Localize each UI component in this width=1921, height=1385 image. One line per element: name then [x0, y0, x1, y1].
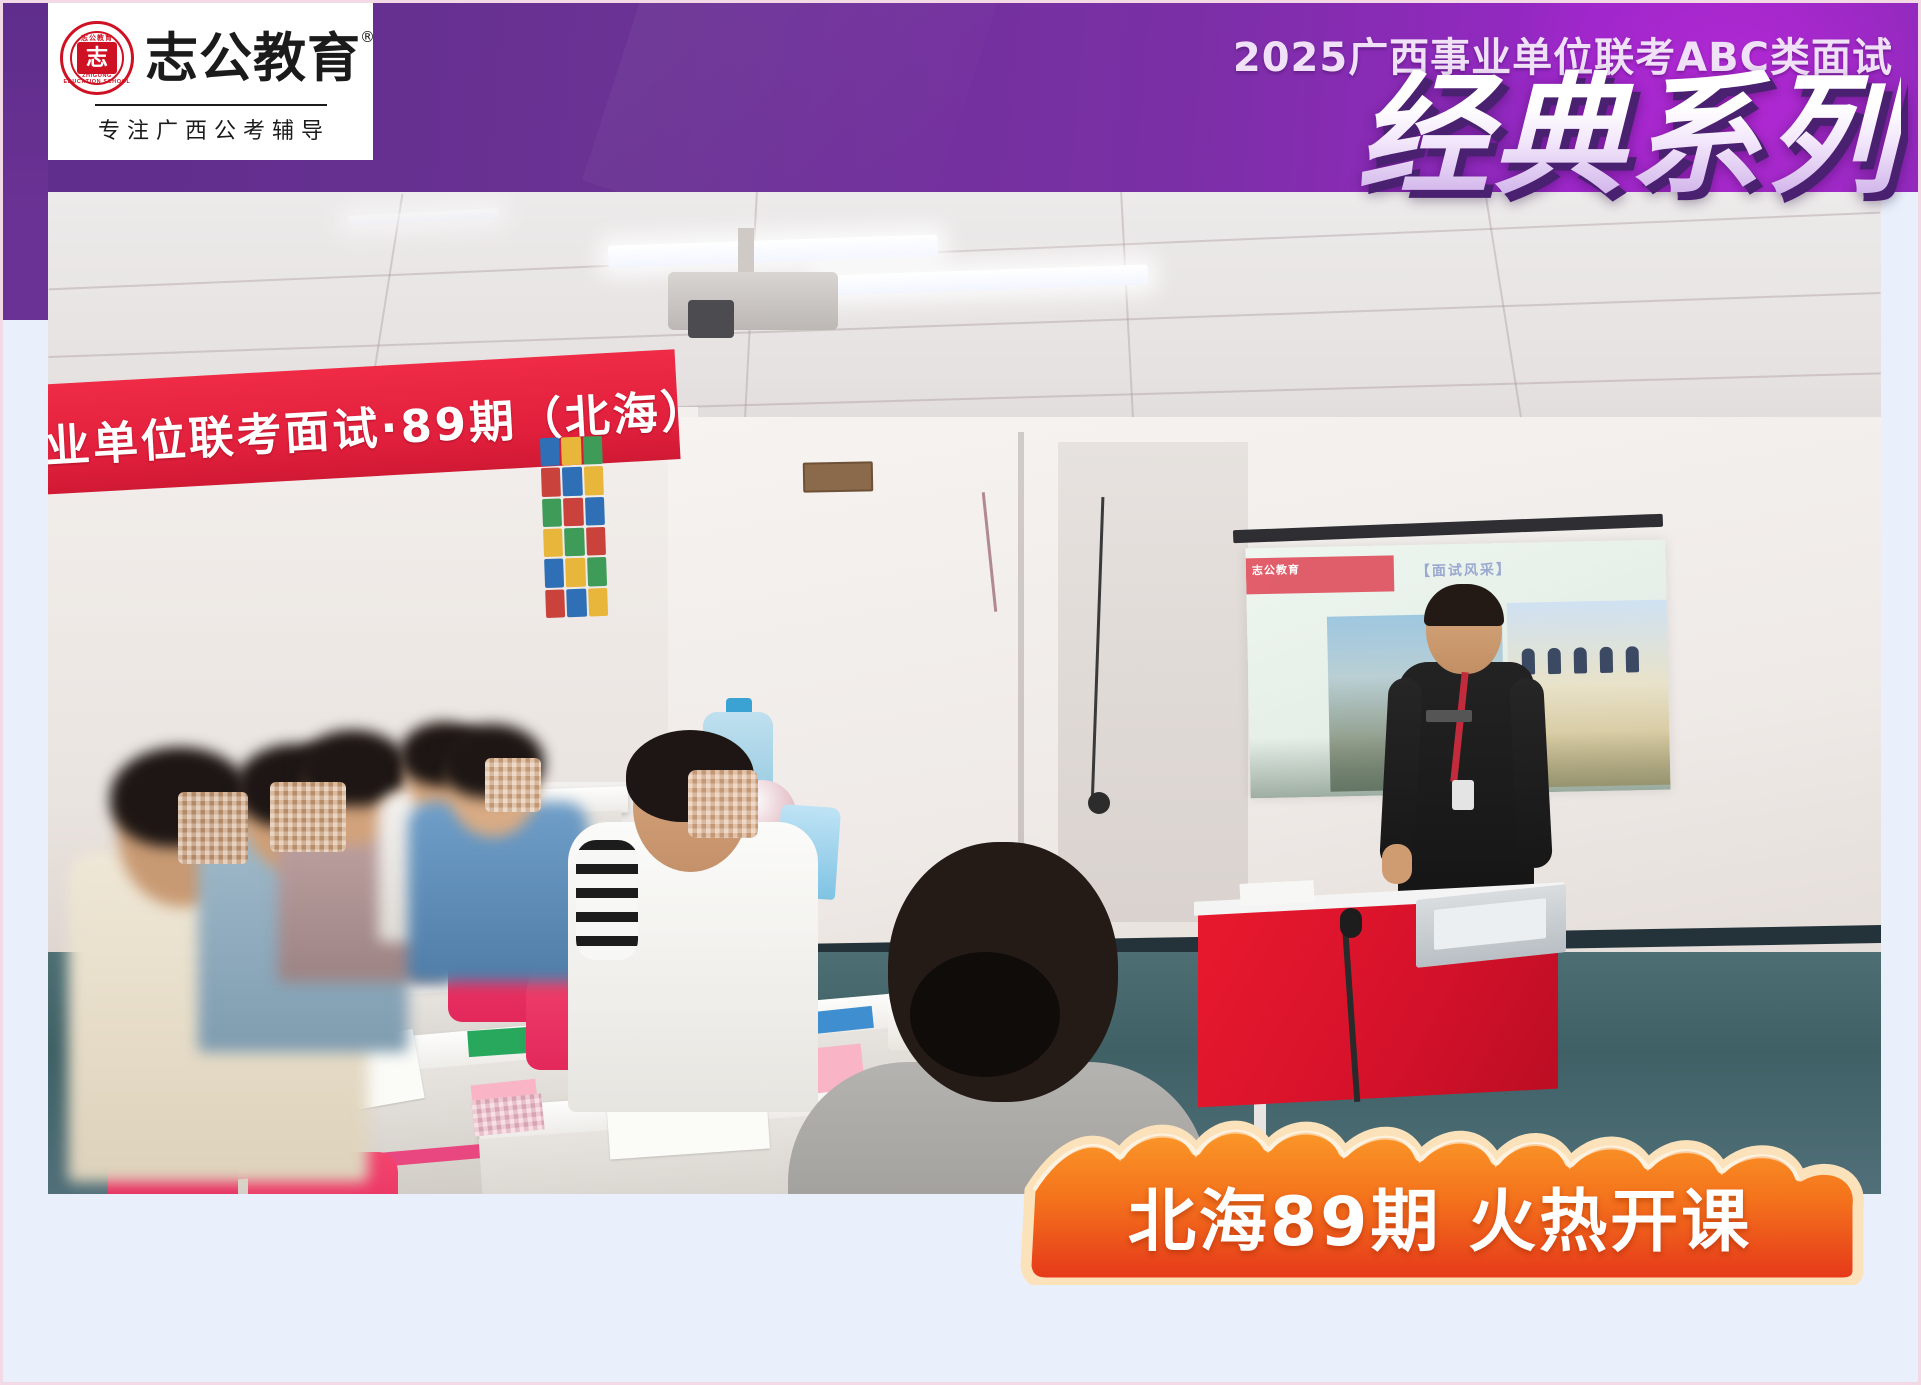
brand-logo-row: 志公教育 志 ZHIGONG EDUCATION SCHOOL 志公教育 ®	[60, 21, 361, 95]
blurred-label-1	[471, 1093, 544, 1136]
header-headline: 经典系列	[1357, 70, 1901, 202]
photo-scene: 业单位联考面试·89期（北海） 志公教育 【面试风采】	[48, 192, 1881, 1194]
brand-logo-card: 志公教育 志 ZHIGONG EDUCATION SCHOOL 志公教育 ® 专…	[48, 0, 373, 160]
wall-number-chart	[540, 436, 608, 618]
student-6-face-mosaic	[688, 770, 758, 838]
instructor-hand	[1382, 844, 1412, 884]
brand-name-text: 志公教育	[145, 28, 361, 89]
student-5-face-mosaic	[485, 758, 541, 812]
ribbon-label: 北海89期 火热开课	[1000, 1120, 1880, 1285]
student-6-stripes	[576, 840, 638, 960]
wall-plaque	[803, 461, 874, 492]
seal-bottom-text: ZHIGONG EDUCATION SCHOOL	[63, 73, 131, 85]
student-1-face-mosaic	[178, 792, 248, 864]
slide-title: 【面试风采】	[1416, 559, 1512, 581]
instructor-shirt-print	[1426, 710, 1472, 722]
brand-name: 志公教育 ®	[145, 32, 361, 85]
logo-divider	[95, 104, 327, 106]
cable-plug	[1088, 792, 1110, 814]
bottom-ribbon: 北海89期 火热开课	[1000, 1120, 1880, 1285]
student-foreground-hair-bun	[910, 952, 1060, 1077]
projector-bracket	[688, 300, 734, 338]
slide-header-label: 志公教育	[1246, 555, 1394, 582]
instructor-badge	[1452, 780, 1474, 810]
brand-tagline: 专注广西公考辅导	[91, 113, 330, 145]
student-2-face-mosaic	[270, 782, 346, 852]
header-left-rail	[0, 0, 48, 320]
microphone-head	[1340, 908, 1362, 938]
poster-canvas: 志公教育 志 ZHIGONG EDUCATION SCHOOL 志公教育 ® 专…	[0, 0, 1921, 1385]
wall-alcove	[1058, 442, 1248, 922]
seal-center-glyph: 志	[77, 42, 117, 74]
classroom-photo: 业单位联考面试·89期（北海） 志公教育 【面试风采】	[48, 192, 1881, 1194]
slide-header-bar: 志公教育	[1246, 555, 1395, 594]
brand-seal-icon: 志公教育 志 ZHIGONG EDUCATION SCHOOL	[60, 21, 134, 95]
lectern-paper	[1239, 880, 1314, 906]
registered-mark: ®	[360, 30, 376, 45]
